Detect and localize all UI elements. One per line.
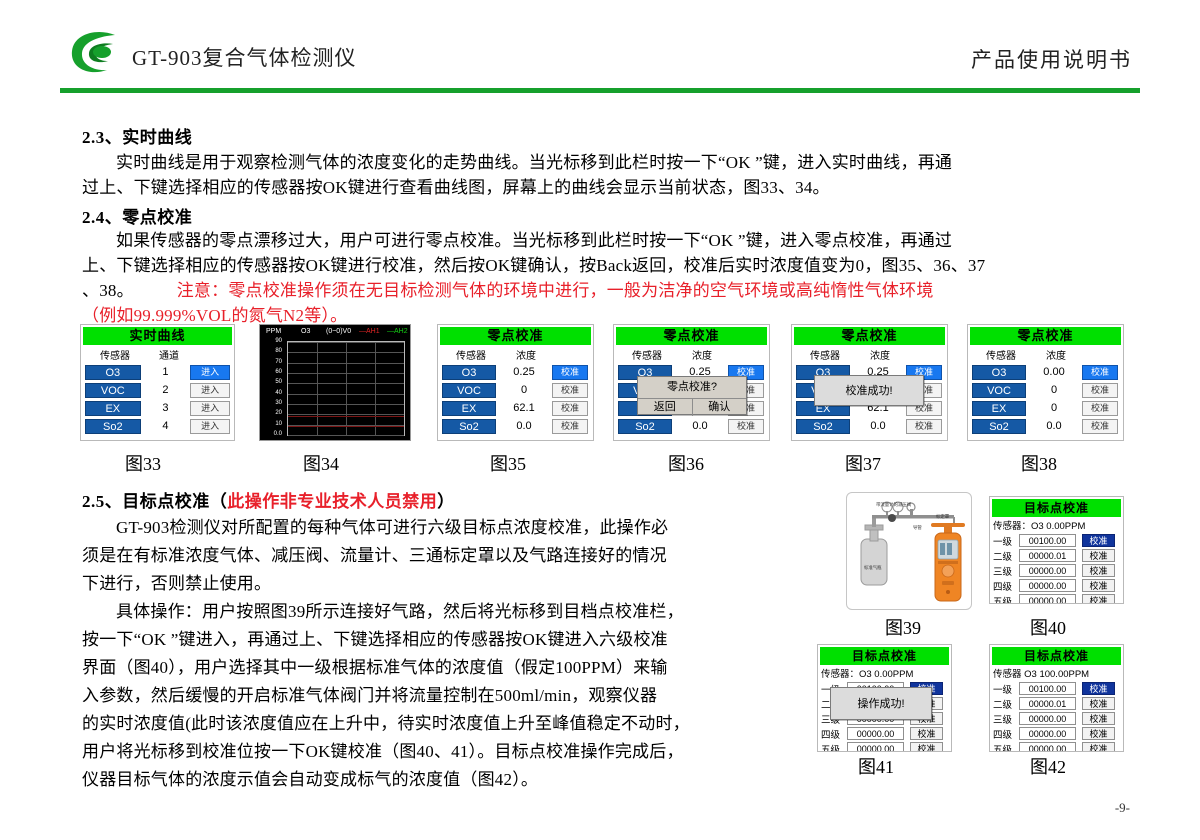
company-leaf-logo [68, 30, 120, 74]
table-row: 三级00000.00校准 [990, 563, 1123, 578]
fig42-title: 目标点校准 [992, 647, 1121, 665]
chart-gridline-v [375, 342, 376, 435]
table-row: 一级00100.00校准 [990, 681, 1123, 696]
section-2-3-paragraph-line1: 实时曲线是用于观察检测气体的浓度变化的走势曲线。当光标移到此栏时按一下“OK ”… [82, 150, 1140, 175]
fig40-title: 目标点校准 [992, 499, 1121, 517]
calibrate-button[interactable]: 校准 [552, 365, 588, 380]
table-row: O30.25校准 [438, 363, 593, 381]
section-2-4-paragraph-line3: 、38。 [82, 281, 134, 300]
target-value-input[interactable]: 00000.00 [1019, 579, 1076, 592]
fig36-confirm-button[interactable]: 确认 [693, 399, 747, 416]
table-row: EX0校准 [968, 399, 1123, 417]
page-header: GT-903复合气体检测仪 产品使用说明书 [0, 0, 1200, 92]
fig33-col-sensor: 传感器 [85, 347, 145, 362]
figure-37-zero-calibration-success-screen: 零点校准 传感器 浓度 O30.25校准VOC0校准EX62.1校准So20.0… [791, 324, 948, 441]
enter-button[interactable]: 进入 [190, 383, 230, 398]
calibrate-button[interactable]: 校准 [906, 419, 942, 434]
table-row: So24进入 [81, 417, 234, 435]
calibrate-button[interactable]: 校准 [552, 383, 588, 398]
target-value-input[interactable]: 00000.00 [1019, 712, 1076, 725]
table-row: So20.0校准 [792, 417, 947, 435]
enter-button[interactable]: 进入 [190, 401, 230, 416]
caption-fig34: 图34 [303, 450, 339, 476]
table-row: 四级00000.00校准 [818, 726, 951, 741]
chart-y-tick: 20 [266, 410, 282, 416]
sensor-chip-so2[interactable]: So2 [618, 419, 672, 434]
concentration-value: 0.0 [850, 420, 906, 432]
caption-fig35: 图35 [490, 450, 526, 476]
level-label: 五级 [993, 594, 1019, 605]
zero-calibration-warning-line1: 注意：零点校准操作须在无目标检测气体的环境中进行，一般为洁净的空气环境或高纯惰性… [177, 281, 934, 300]
sensor-chip-voc[interactable]: VOC [85, 383, 141, 398]
fig34-plot-area [287, 341, 405, 436]
target-value-input[interactable]: 00000.00 [1019, 564, 1076, 577]
channel-value: 2 [141, 384, 191, 396]
calibrate-button[interactable]: 校准 [1082, 401, 1118, 416]
fig36-column-headers: 传感器 浓度 [614, 345, 769, 363]
section-2-4-heading: 2.4、零点校准 [82, 203, 192, 228]
fig35-col-conc: 浓度 [500, 347, 552, 362]
level-label: 一级 [993, 682, 1019, 696]
fig36-title: 零点校准 [616, 327, 767, 345]
svg-text:带流量计的减压阀: 带流量计的减压阀 [876, 501, 911, 508]
fig42-row-list: 一级00100.00校准二级00000.01校准三级00000.00校准四级00… [990, 681, 1123, 752]
calibrate-button[interactable]: 校准 [910, 742, 943, 752]
chart-gridline-v [317, 342, 318, 435]
section-2-5-line4: 具体操作：用户按照图39所示连接好气路，然后将光标移到目档点校准栏， [82, 599, 762, 624]
concentration-value: 0.0 [1026, 420, 1082, 432]
chart-y-tick: 30 [266, 400, 282, 406]
calibrate-button[interactable]: 校准 [1082, 549, 1115, 562]
figure-40-target-calibration-screen: 目标点校准 传感器：O3 0.00PPM 一级00100.00校准二级00000… [989, 496, 1124, 604]
concentration-value: 0.25 [496, 366, 552, 378]
chart-alarm-line-ah1 [288, 416, 404, 417]
table-row: 二级00000.01校准 [990, 696, 1123, 711]
section-2-5-heading-prefix: 2.5、目标点校准（ [82, 492, 227, 511]
fig37-col-sensor: 传感器 [796, 347, 854, 362]
fig41-dialog-message: 操作成功! [831, 688, 931, 721]
fig40-row-list: 一级00100.00校准二级00000.01校准三级00000.00校准四级00… [990, 533, 1123, 604]
concentration-value: 0 [1026, 384, 1082, 396]
manual-page: GT-903复合气体检测仪 产品使用说明书 2.3、实时曲线 实时曲线是用于观察… [0, 0, 1200, 840]
figure-38-zero-calibration-result-screen: 零点校准 传感器 浓度 O30.00校准VOC0校准EX0校准So20.0校准 [967, 324, 1124, 441]
sensor-chip-so2[interactable]: So2 [442, 419, 496, 434]
target-value-input[interactable]: 00000.00 [847, 742, 904, 752]
fig37-title: 零点校准 [794, 327, 945, 345]
fig34-unit-label: PPM [266, 328, 281, 335]
table-row: O30.00校准 [968, 363, 1123, 381]
fig36-back-button[interactable]: 返回 [638, 399, 692, 416]
table-row: VOC2进入 [81, 381, 234, 399]
section-2-4-paragraph-line2: 上、下键选择相应的传感器按OK键进行校准，然后按OK键确认，按Back返回，校准… [82, 253, 1142, 278]
fig36-dialog-buttons: 返回 确认 [638, 398, 746, 416]
level-label: 三级 [993, 564, 1019, 578]
enter-button[interactable]: 进入 [190, 365, 230, 380]
fig36-col-conc: 浓度 [676, 347, 728, 362]
calibrate-button[interactable]: 校准 [552, 401, 588, 416]
target-value-input[interactable]: 00000.01 [1019, 697, 1076, 710]
figure-36-zero-calibration-confirm-screen: 零点校准 传感器 浓度 O30.25校准VOC0校准EX62.1校准So20.0… [613, 324, 770, 441]
channel-value: 1 [141, 366, 191, 378]
table-row: 四级00000.00校准 [990, 578, 1123, 593]
concentration-value: 0.00 [1026, 366, 1082, 378]
fig35-column-headers: 传感器 浓度 [438, 345, 593, 363]
caption-fig37: 图37 [845, 450, 881, 476]
section-2-5-line6: 界面（图40），用户选择其中一级根据标准气体的浓度值（假定100PPM）来输 [82, 655, 762, 680]
section-2-5-line5: 按一下“OK ”键进入，再通过上、下键选择相应的传感器按OK键进入六级校准 [82, 627, 762, 652]
table-row: 五级00000.00校准 [818, 741, 951, 752]
concentration-value: 0 [496, 384, 552, 396]
calibrate-button[interactable]: 校准 [1082, 742, 1115, 752]
figure-41-target-calibration-success-screen: 目标点校准 传感器：O3 0.00PPM 一级00100.00校准二级00000… [817, 644, 952, 752]
channel-value: 3 [141, 402, 191, 414]
fig33-title: 实时曲线 [83, 327, 232, 345]
calibrate-button[interactable]: 校准 [1082, 579, 1115, 592]
sensor-chip-o3[interactable]: O3 [972, 365, 1026, 380]
table-row: So20.0校准 [968, 417, 1123, 435]
calibrate-button[interactable]: 校准 [552, 419, 588, 434]
chart-gridline-v [346, 342, 347, 435]
concentration-value: 62.1 [496, 402, 552, 414]
chart-y-tick: 90 [266, 338, 282, 344]
figure-39-gas-path-diagram: 带流量计的减压阀 标准气瓶 导管 标定罩 [846, 492, 972, 610]
section-2-5-line9: 用户将光标移到校准位按一下OK键校准（图40、41）。目标点校准操作完成后， [82, 739, 782, 764]
fig34-legend-ah2: —AH2 [387, 328, 394, 335]
fig41-success-dialog: 操作成功! [830, 687, 932, 720]
section-2-3-paragraph-line2: 过上、下键选择相应的传感器按OK键进行查看曲线图，屏幕上的曲线会显示当前状态，图… [82, 175, 1140, 200]
fig34-chart-header: PPM O3 (0~0)V0 —AH1 —AH2 [260, 325, 410, 339]
sensor-chip-ex[interactable]: EX [972, 401, 1026, 416]
sensor-chip-o3[interactable]: O3 [85, 365, 141, 380]
caption-fig41: 图41 [858, 753, 894, 779]
enter-button[interactable]: 进入 [190, 419, 230, 434]
concentration-value: 0.0 [496, 420, 552, 432]
table-row: O31进入 [81, 363, 234, 381]
table-row: VOC0校准 [438, 381, 593, 399]
fig33-row-list: O31进入VOC2进入EX3进入So24进入 [81, 363, 234, 435]
table-row: 五级00000.00校准 [990, 741, 1123, 752]
fig35-col-sensor: 传感器 [442, 347, 500, 362]
level-label: 二级 [993, 549, 1019, 563]
fig37-column-headers: 传感器 浓度 [792, 345, 947, 363]
calibrate-button[interactable]: 校准 [1082, 419, 1118, 434]
concentration-value: 0 [1026, 402, 1082, 414]
calibrate-button[interactable]: 校准 [1082, 594, 1115, 604]
level-label: 二级 [993, 697, 1019, 711]
svg-text:标准气瓶: 标准气瓶 [864, 564, 882, 571]
fig36-dialog-message: 零点校准? [638, 377, 746, 398]
fig33-col-channel: 通道 [145, 347, 193, 362]
chart-y-tick: 0.0 [266, 431, 282, 437]
calibrate-button[interactable]: 校准 [1082, 712, 1115, 725]
figure-35-zero-calibration-screen: 零点校准 传感器 浓度 O30.25校准VOC0校准EX62.1校准So20.0… [437, 324, 594, 441]
table-row: 一级00100.00校准 [990, 533, 1123, 548]
header-divider [60, 88, 1140, 93]
calibrate-button[interactable]: 校准 [728, 419, 764, 434]
table-row: So20.0校准 [614, 417, 769, 435]
caption-fig42: 图42 [1030, 753, 1066, 779]
table-row: 三级00000.00校准 [990, 711, 1123, 726]
chart-alarm-line-ah2 [288, 426, 404, 427]
fig41-title: 目标点校准 [820, 647, 949, 665]
caption-fig39: 图39 [885, 614, 921, 640]
chart-y-tick: 40 [266, 390, 282, 396]
target-value-input[interactable]: 00000.00 [1019, 594, 1076, 604]
table-row: 五级00000.00校准 [990, 593, 1123, 604]
table-row: EX3进入 [81, 399, 234, 417]
section-2-5-heading-warning: 此操作非专业技术人员禁用 [227, 492, 437, 511]
level-label: 四级 [993, 727, 1019, 741]
fig42-sensor-line: 传感器 O3 100.00PPM [990, 665, 1123, 681]
section-2-5-line2: 须是在有标准浓度气体、减压阀、流量计、三通标定罩以及气路连接好的情况 [82, 543, 742, 568]
table-row: VOC0校准 [968, 381, 1123, 399]
fig37-dialog-message: 校准成功! [815, 376, 923, 407]
page-number: -9- [1115, 800, 1130, 816]
fig37-success-dialog: 校准成功! [814, 375, 924, 406]
table-row: So20.0校准 [438, 417, 593, 435]
section-2-3-heading: 2.3、实时曲线 [82, 123, 192, 148]
level-label: 四级 [993, 579, 1019, 593]
chart-y-tick: 70 [266, 359, 282, 365]
chart-y-tick: 50 [266, 379, 282, 385]
calibrate-button[interactable]: 校准 [1082, 365, 1118, 380]
target-value-input[interactable]: 00000.00 [1019, 727, 1076, 740]
section-2-5-line10: 仪器目标气体的浓度示值会自动变成标气的浓度值（图42）。 [82, 767, 782, 792]
fig35-title: 零点校准 [440, 327, 591, 345]
fig35-row-list: O30.25校准VOC0校准EX62.1校准So20.0校准 [438, 363, 593, 435]
figure-33-realtime-curve-screen: 实时曲线 传感器 通道 O31进入VOC2进入EX3进入So24进入 [80, 324, 235, 441]
calibrate-button[interactable]: 校准 [1082, 534, 1115, 547]
chart-y-tick: 10 [266, 421, 282, 427]
target-value-input[interactable]: 00000.01 [1019, 549, 1076, 562]
calibrate-button[interactable]: 校准 [1082, 564, 1115, 577]
section-2-5-line8: 的实时浓度值(此时该浓度值应在上升中，待实时浓度值上升至峰值稳定不动时， [82, 711, 782, 736]
level-label: 一级 [993, 534, 1019, 548]
sensor-chip-ex[interactable]: EX [85, 401, 141, 416]
sensor-chip-o3[interactable]: O3 [442, 365, 496, 380]
fig36-col-sensor: 传感器 [618, 347, 676, 362]
table-row: 二级00000.01校准 [990, 548, 1123, 563]
fig36-confirm-dialog: 零点校准? 返回 确认 [637, 376, 747, 415]
section-2-5-heading: 2.5、目标点校准（此操作非专业技术人员禁用） [82, 487, 455, 512]
table-row: 四级00000.00校准 [990, 726, 1123, 741]
target-value-input[interactable]: 00100.00 [1019, 534, 1076, 547]
manual-subtitle: 产品使用说明书 [971, 44, 1132, 74]
svg-text:导管: 导管 [913, 524, 922, 531]
fig38-row-list: O30.00校准VOC0校准EX0校准So20.0校准 [968, 363, 1123, 435]
caption-fig40: 图40 [1030, 614, 1066, 640]
level-label: 四级 [821, 727, 847, 741]
fig33-column-headers: 传感器 通道 [81, 345, 234, 363]
sensor-chip-voc[interactable]: VOC [972, 383, 1026, 398]
chart-y-tick: 80 [266, 348, 282, 354]
sensor-chip-so2[interactable]: So2 [85, 419, 141, 434]
sensor-chip-ex[interactable]: EX [442, 401, 496, 416]
fig34-gas-label: O3 [301, 328, 310, 335]
caption-fig36: 图36 [668, 450, 704, 476]
fig39-svg: 带流量计的减压阀 标准气瓶 导管 标定罩 [847, 493, 971, 609]
sensor-chip-so2[interactable]: So2 [796, 419, 850, 434]
svg-text:标定罩: 标定罩 [936, 513, 950, 520]
level-label: 五级 [993, 742, 1019, 753]
table-row: EX62.1校准 [438, 399, 593, 417]
sensor-chip-voc[interactable]: VOC [442, 383, 496, 398]
section-2-5-line3: 下进行，否则禁止使用。 [82, 571, 742, 596]
caption-fig38: 图38 [1021, 450, 1057, 476]
figure-34-realtime-chart: PPM O3 (0~0)V0 —AH1 —AH2 908070605040302… [259, 324, 411, 441]
fig41-sensor-line: 传感器：O3 0.00PPM [818, 665, 951, 681]
fig38-col-sensor: 传感器 [972, 347, 1030, 362]
target-value-input[interactable]: 00000.00 [847, 727, 904, 740]
calibrate-button[interactable]: 校准 [1082, 727, 1115, 740]
product-title: GT-903复合气体检测仪 [132, 42, 357, 72]
calibrate-button[interactable]: 校准 [1082, 383, 1118, 398]
chart-y-tick: 60 [266, 369, 282, 375]
fig34-range-label: (0~0)V0 [326, 328, 351, 335]
section-2-5-line1: GT-903检测仪对所配置的每种气体可进行六级目标点浓度校准，此操作必 [82, 515, 742, 540]
chart-gridline-h [288, 435, 404, 436]
figure-42-target-calibration-result-screen: 目标点校准 传感器 O3 100.00PPM 一级00100.00校准二级000… [989, 644, 1124, 752]
section-2-4-paragraph-line1: 如果传感器的零点漂移过大，用户可进行零点校准。当光标移到此栏时按一下“OK ”键… [82, 228, 1140, 253]
calibrate-button[interactable]: 校准 [1082, 682, 1115, 695]
channel-value: 4 [141, 420, 191, 432]
fig34-legend-ah1: —AH1 [359, 328, 366, 335]
caption-fig33: 图33 [125, 450, 161, 476]
level-label: 三级 [993, 712, 1019, 726]
section-2-5-line7: 入参数，然后缓慢的开启标准气体阀门并将流量控制在500ml/min，观察仪器 [82, 683, 772, 708]
concentration-value: 0.0 [672, 420, 728, 432]
fig38-col-conc: 浓度 [1030, 347, 1082, 362]
level-label: 五级 [821, 742, 847, 753]
target-value-input[interactable]: 00000.00 [1019, 742, 1076, 752]
fig40-sensor-line: 传感器：O3 0.00PPM [990, 517, 1123, 533]
sensor-chip-so2[interactable]: So2 [972, 419, 1026, 434]
calibrate-button[interactable]: 校准 [1082, 697, 1115, 710]
section-2-5-heading-suffix: ） [437, 492, 455, 511]
target-value-input[interactable]: 00100.00 [1019, 682, 1076, 695]
fig38-column-headers: 传感器 浓度 [968, 345, 1123, 363]
fig37-col-conc: 浓度 [854, 347, 906, 362]
calibrate-button[interactable]: 校准 [910, 727, 943, 740]
fig38-title: 零点校准 [970, 327, 1121, 345]
